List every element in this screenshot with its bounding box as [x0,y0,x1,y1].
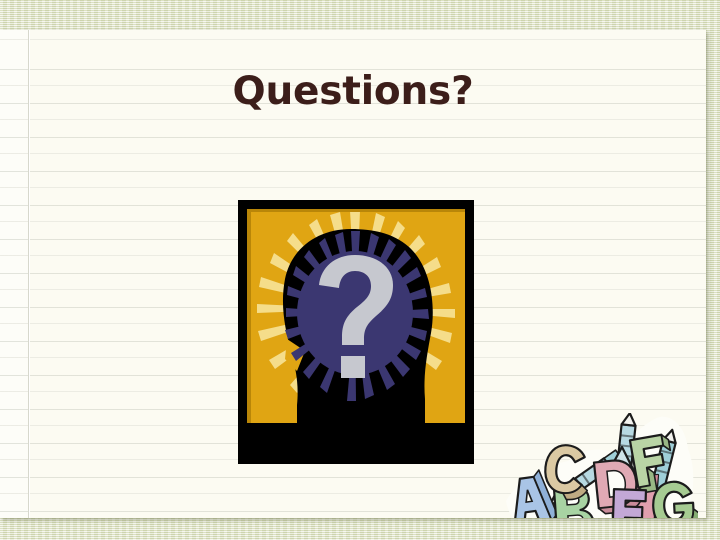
slide-canvas: Questions? [0,0,720,540]
question-mark-illustration-canvas [247,209,465,423]
question-mark-artwork [247,209,465,423]
question-mark-illustration [238,200,474,464]
abc-letters-pencils-clipart: .ol { stroke:#1c1c1c; stroke-width:2.2; … [498,413,698,518]
page-title: Questions? [0,72,706,113]
abc-artwork: .ol { stroke:#1c1c1c; stroke-width:2.2; … [498,413,698,518]
notebook-paper-background: Questions? [0,30,706,518]
